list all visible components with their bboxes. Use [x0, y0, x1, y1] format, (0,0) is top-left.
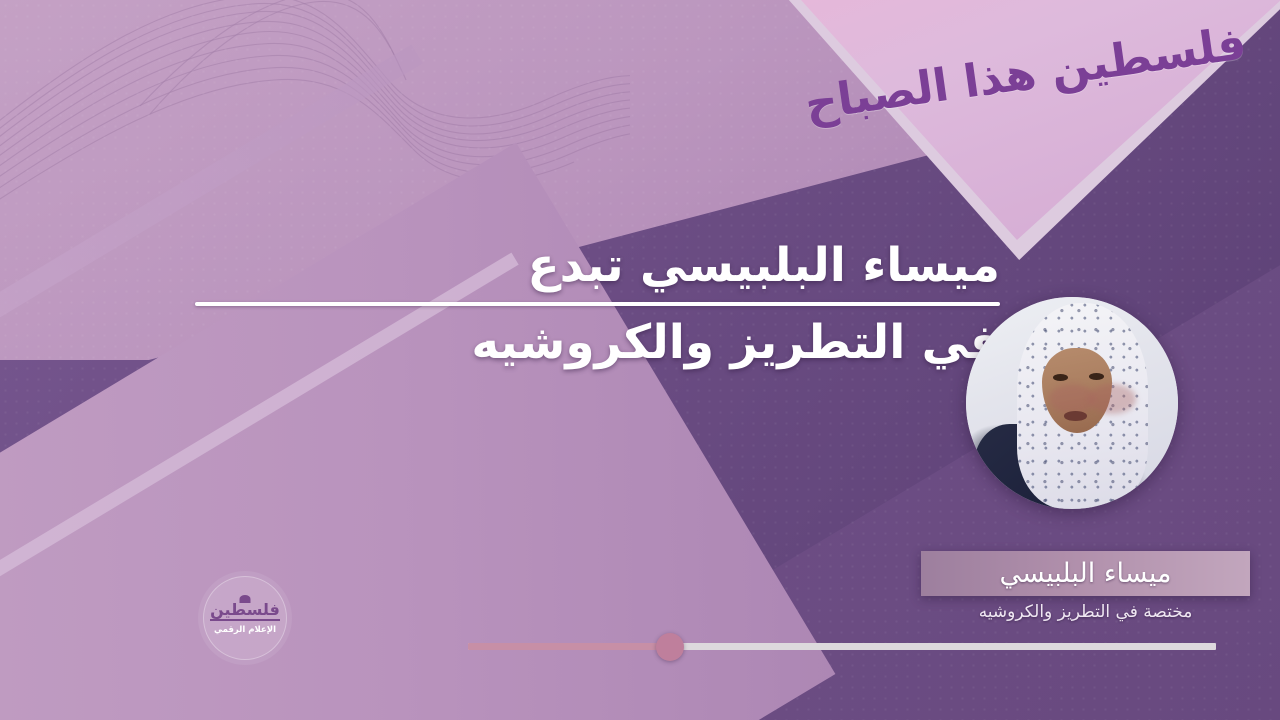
video-progress-bar[interactable]	[468, 643, 1216, 650]
progress-bar-fill	[468, 643, 670, 650]
mouth	[1064, 411, 1087, 421]
watermark-tagline: الإعلام الرقمي	[214, 626, 276, 635]
eye-left	[1053, 374, 1068, 381]
video-thumbnail: فلسطين هذا الصباح ميساء البلبيسي تبدع في…	[0, 0, 1280, 720]
guest-name-banner: ميساء البلبيسي	[921, 551, 1250, 596]
headline-block: ميساء البلبيسي تبدع في التطريز والكروشيه	[150, 238, 1000, 371]
guest-portrait-avatar	[966, 297, 1178, 509]
guest-name: ميساء البلبيسي	[1000, 558, 1172, 589]
headline-line-2: في التطريز والكروشيه	[150, 315, 1000, 370]
headline-divider	[195, 302, 1000, 306]
progress-bar-handle[interactable]	[656, 633, 684, 661]
eye-right	[1089, 373, 1104, 380]
cheek-right	[1089, 384, 1136, 414]
channel-watermark-logo: فلسطين الإعلام الرقمي	[203, 576, 287, 660]
headline-line-1: ميساء البلبيسي تبدع	[150, 238, 1000, 293]
portrait-photo	[966, 297, 1178, 509]
guest-role: مختصة في التطريز والكروشيه	[921, 602, 1250, 622]
dome-icon	[240, 595, 251, 603]
watermark-brand-name: فلسطين	[210, 602, 280, 621]
